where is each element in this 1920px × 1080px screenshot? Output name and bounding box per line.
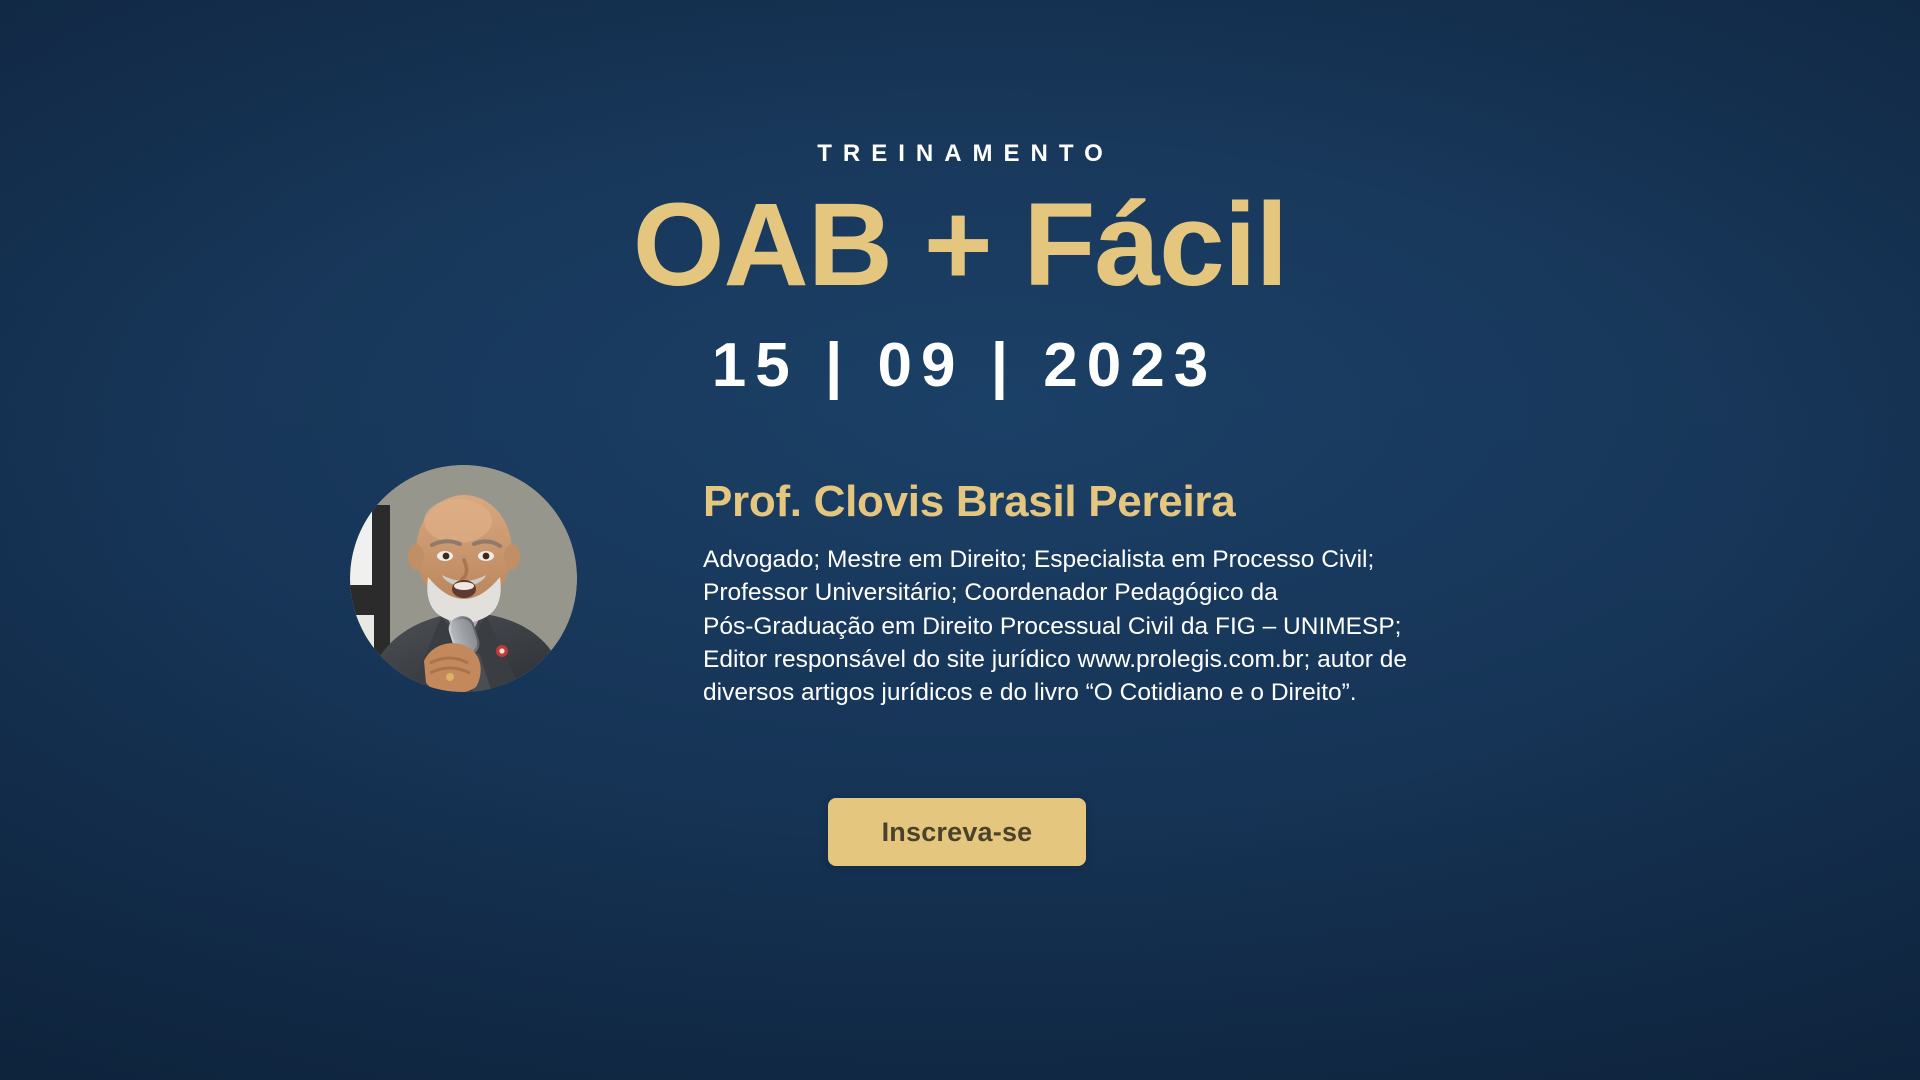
eyebrow-label: TREINAMENTO: [0, 140, 1920, 168]
speaker-block: Prof. Clovis Brasil Pereira Advogado; Me…: [350, 455, 1600, 710]
subscribe-button[interactable]: Inscreva-se: [828, 798, 1086, 866]
bio-line: Editor responsável do site jurídico www.…: [703, 643, 1600, 676]
bio-line: Professor Universitário; Coordenador Ped…: [703, 576, 1600, 609]
bio-line: diversos artigos jurídicos e do livro “O…: [703, 676, 1600, 709]
avatar: [350, 465, 577, 692]
bio-line: Advogado; Mestre em Direito; Especialist…: [703, 543, 1600, 576]
speaker-text: Prof. Clovis Brasil Pereira Advogado; Me…: [703, 455, 1600, 710]
event-date: 15 | 09 | 2023: [0, 330, 1920, 401]
page-title: OAB + Fácil: [0, 186, 1920, 304]
bio-line: Pós-Graduação em Direito Processual Civi…: [703, 610, 1600, 643]
banner-content: TREINAMENTO OAB + Fácil 15 | 09 | 2023: [0, 0, 1920, 1080]
speaker-bio: Advogado; Mestre em Direito; Especialist…: [703, 543, 1600, 710]
promo-banner: TREINAMENTO OAB + Fácil 15 | 09 | 2023: [0, 0, 1920, 1080]
speaker-name: Prof. Clovis Brasil Pereira: [703, 477, 1600, 527]
